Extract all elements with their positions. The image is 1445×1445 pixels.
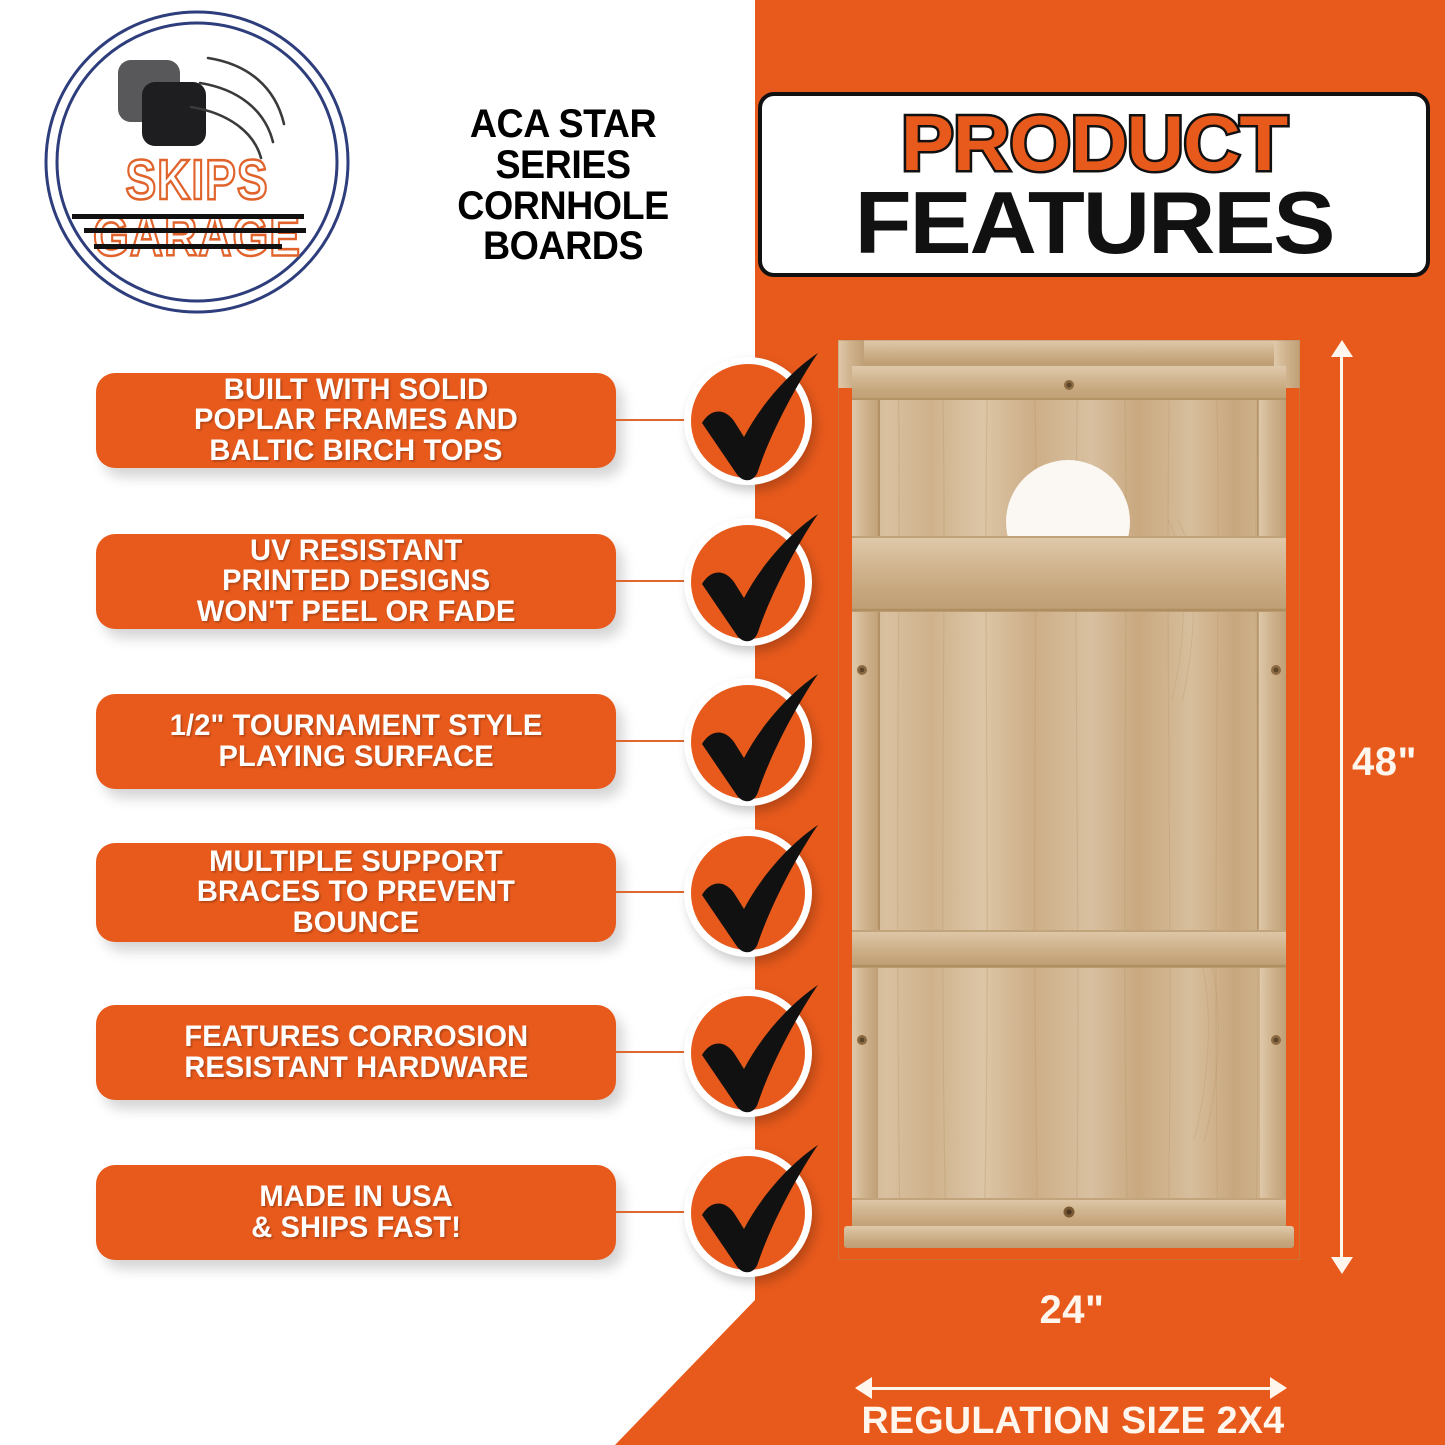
feature-connector-line (616, 419, 692, 421)
feature-connector-line (616, 891, 692, 893)
product-title: ACA STAR SERIES CORNHOLE BOARDS (408, 104, 718, 267)
feature-check-badge (684, 829, 812, 957)
feature-pill-label: UV RESISTANT PRINTED DESIGNS WON'T PEEL … (187, 536, 525, 628)
product-title-line-3: CORNHOLE (408, 186, 718, 227)
width-arrow-left-icon (855, 1377, 872, 1399)
height-dimension-label: 48" (1352, 740, 1417, 785)
logo-rule-2 (84, 228, 306, 233)
product-features-banner: PRODUCT FEATURES (758, 92, 1430, 277)
product-title-line-1: ACA STAR (408, 104, 718, 145)
product-title-line-4: BOARDS (408, 226, 718, 267)
feature-pill-label: FEATURES CORROSION RESISTANT HARDWARE (174, 1022, 537, 1083)
feature-connector-line (616, 740, 692, 742)
feature-check-badge (684, 518, 812, 646)
regulation-size-label: REGULATION SIZE 2X4 (821, 1400, 1326, 1443)
feature-pill[interactable]: UV RESISTANT PRINTED DESIGNS WON'T PEEL … (96, 534, 616, 629)
brand-logo: SKIPS GARAGE (32, 6, 362, 318)
feature-check-badge (684, 989, 812, 1117)
feature-pill[interactable]: MADE IN USA & SHIPS FAST! (96, 1165, 616, 1260)
feature-pill[interactable]: 1/2" TOURNAMENT STYLE PLAYING SURFACE (96, 694, 616, 789)
feature-connector-line (616, 580, 692, 582)
banner-title-features: FEATURES (742, 179, 1445, 267)
width-arrow-right-icon (1270, 1377, 1287, 1399)
logo-wordmark: SKIPS GARAGE (39, 153, 356, 266)
feature-check-badge (684, 1149, 812, 1277)
height-arrow-up-icon (1331, 340, 1353, 357)
cornhole-board-svg (838, 340, 1300, 1260)
feature-pill[interactable]: MULTIPLE SUPPORT BRACES TO PREVENT BOUNC… (96, 843, 616, 942)
height-dimension-line (1340, 348, 1343, 1266)
banner-title-product: PRODUCT (755, 104, 1432, 182)
logo-rule-3 (94, 244, 282, 249)
feature-connector-line (616, 1211, 692, 1213)
feature-connector-line (616, 1051, 692, 1053)
feature-check-badge (684, 678, 812, 806)
feature-pill[interactable]: BUILT WITH SOLID POPLAR FRAMES AND BALTI… (96, 373, 616, 468)
feature-pill[interactable]: FEATURES CORROSION RESISTANT HARDWARE (96, 1005, 616, 1100)
width-dimension-label: 24" (866, 1288, 1278, 1333)
feature-pill-label: BUILT WITH SOLID POPLAR FRAMES AND BALTI… (184, 375, 527, 467)
height-arrow-down-icon (1331, 1257, 1353, 1274)
width-dimension-line (866, 1387, 1278, 1390)
feature-check-badge (684, 357, 812, 485)
feature-pill-label: 1/2" TOURNAMENT STYLE PLAYING SURFACE (160, 711, 552, 772)
feature-pill-label: MULTIPLE SUPPORT BRACES TO PREVENT BOUNC… (187, 847, 524, 939)
cornhole-board-image (838, 340, 1300, 1260)
feature-pill-label: MADE IN USA & SHIPS FAST! (241, 1182, 470, 1243)
infographic-canvas: SKIPS GARAGE ACA STAR SERIES CORNHOLE BO… (0, 0, 1445, 1445)
product-title-line-2: SERIES (408, 145, 718, 186)
logo-rule-1 (72, 214, 304, 219)
